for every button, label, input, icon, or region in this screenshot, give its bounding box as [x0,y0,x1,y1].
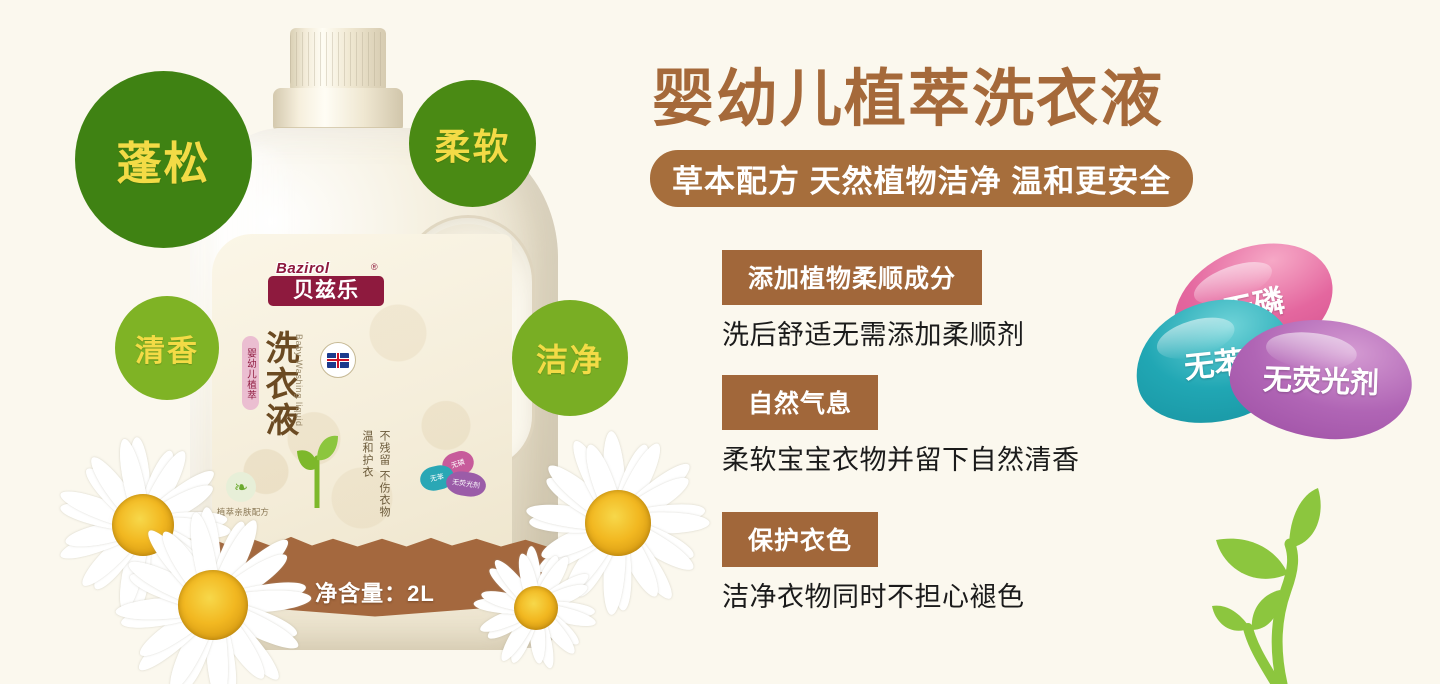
daisy-flower [468,540,603,675]
feature-desc-3: 洁净衣物同时不担心褪色 [722,575,1025,614]
page-title: 婴幼儿植萃洗衣液 [652,48,1164,138]
uk-flag-badge [320,342,356,378]
badge-fluorescent-free-label: 无荧光剂 [1262,356,1379,402]
label-product-title-en: Baby Washing liquid [294,334,304,427]
feature-desc-1: 洗后舒适无需添加柔顺剂 [722,313,1025,352]
brand-logo: Bazirol ® 贝兹乐 [268,262,398,310]
feature-circle-soft: 柔软 [409,80,536,207]
label-mini-badges: 无磷 无苯 无荧光剂 [420,452,492,502]
certification-badges: 无磷 无苯 无荧光剂 [1140,242,1440,462]
bottle-neck-collar [273,88,403,130]
feature-circle-fragrant: 清香 [115,296,219,400]
feature-tag-2: 自然气息 [722,375,878,430]
label-product-title: 洗衣液 [262,330,295,438]
feature-circle-clean-label: 洁净 [536,335,604,381]
uk-flag-icon [327,353,349,368]
feature-circle-clean: 洁净 [512,300,628,416]
feature-tag-3: 保护衣色 [722,512,878,567]
label-category-pill: 婴幼儿植萃 [242,336,259,410]
feature-tag-1: 添加植物柔顺成分 [722,250,982,305]
subtitle-banner: 草本配方 天然植物洁净 温和更安全 [650,150,1193,207]
daisy-center [178,570,248,640]
sprout-decoration-icon [1190,478,1410,684]
feature-circle-fluffy: 蓬松 [75,71,252,248]
feature-block-3: 保护衣色 洁净衣物同时不担心褪色 [722,512,1025,614]
daisy-flower [108,500,318,684]
feature-block-1: 添加植物柔顺成分 洗后舒适无需添加柔顺剂 [722,250,1025,352]
sprout-illustration-icon [294,424,340,508]
brand-name-en: Bazirol [276,260,330,277]
feature-circle-fluffy-label: 蓬松 [116,127,210,192]
feature-circle-soft-label: 柔软 [434,118,510,170]
registered-mark-icon: ® [371,262,378,272]
daisy-center [514,586,558,630]
bottle-cap-ridges-icon [290,32,386,86]
feature-desc-2: 柔软宝宝衣物并留下自然清香 [722,438,1080,477]
feature-block-2: 自然气息 柔软宝宝衣物并留下自然清香 [722,375,1080,477]
mini-badge-fluorescent-free: 无荧光剂 [445,469,488,498]
brand-name-cn: 贝兹乐 [268,276,384,306]
promo-banner: Bazirol ® 贝兹乐 婴幼儿植萃 洗衣液 Baby Washing liq… [0,0,1440,684]
feature-circle-fragrant-label: 清香 [135,326,199,370]
label-vertical-notes: 不残留 不伤衣物 温和护衣 [358,430,392,526]
product-visual-area: Bazirol ® 贝兹乐 婴幼儿植萃 洗衣液 Baby Washing liq… [0,0,660,684]
